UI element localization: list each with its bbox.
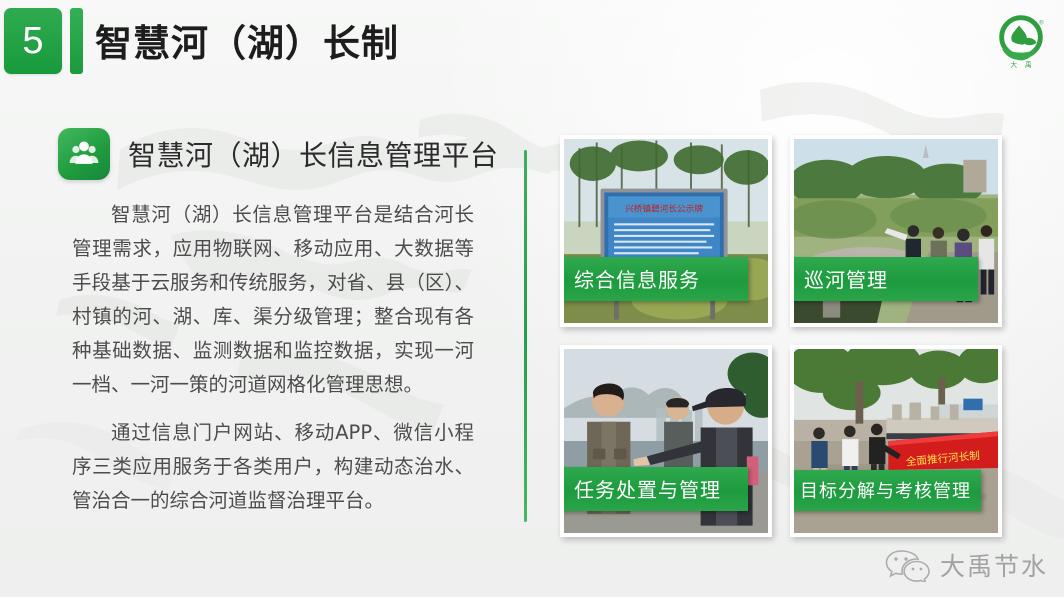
photo-card[interactable]: 兴桥镇碧河长公示牌 综合信息服务: [560, 135, 772, 327]
photo-card[interactable]: 巡河管理: [790, 135, 1002, 327]
photo-caption: 巡河管理: [790, 257, 978, 301]
page-title: 智慧河（湖）长制: [95, 7, 399, 73]
body-paragraph-1: 智慧河（湖）长信息管理平台是结合河长管理需求，应用物联网、移动应用、大数据等手段…: [72, 198, 474, 402]
photo-caption: 目标分解与考核管理: [790, 470, 981, 511]
svg-text:大: 大: [1010, 60, 1017, 69]
vertical-divider: [524, 150, 527, 522]
header-accent-bar: [70, 8, 83, 74]
wechat-watermark: 大禹节水: [884, 547, 1048, 583]
watermark-text: 大禹节水: [940, 547, 1048, 583]
photo-card[interactable]: 全面推行河长制: [790, 345, 1002, 537]
photo-card[interactable]: 任务处置与管理: [560, 345, 772, 537]
photo-caption: 任务处置与管理: [560, 467, 748, 511]
section-number: 5: [22, 22, 43, 60]
slide-header: 5 智慧河（湖）长制 大 禹 ®: [0, 0, 1064, 80]
photo-caption: 综合信息服务: [560, 257, 748, 301]
left-content-column: 智慧河（湖）长信息管理平台 智慧河（湖）长信息管理平台是结合河长管理需求，应用物…: [0, 118, 520, 548]
wechat-icon: [884, 548, 930, 582]
people-group-icon: [58, 128, 110, 180]
section-body: 智慧河（湖）长信息管理平台是结合河长管理需求，应用物联网、移动应用、大数据等手段…: [72, 198, 474, 532]
section-title: 智慧河（湖）长信息管理平台: [128, 134, 499, 174]
section-number-badge: 5: [4, 8, 62, 74]
daYu-water-leaf-logo-icon: 大 禹 ®: [990, 8, 1052, 70]
svg-text:®: ®: [1038, 19, 1044, 26]
slide-canvas: 5 智慧河（湖）长制 大 禹 ®: [0, 0, 1064, 597]
photo-grid: 兴桥镇碧河长公示牌 综合信息服务: [560, 135, 1002, 545]
svg-text:兴桥镇碧河长公示牌: 兴桥镇碧河长公示牌: [625, 203, 703, 215]
section-heading: 智慧河（湖）长信息管理平台: [58, 128, 499, 180]
svg-text:禹: 禹: [1025, 61, 1032, 69]
body-paragraph-2: 通过信息门户网站、移动APP、微信小程序三类应用服务于各类用户，构建动态治水、管…: [72, 416, 474, 518]
